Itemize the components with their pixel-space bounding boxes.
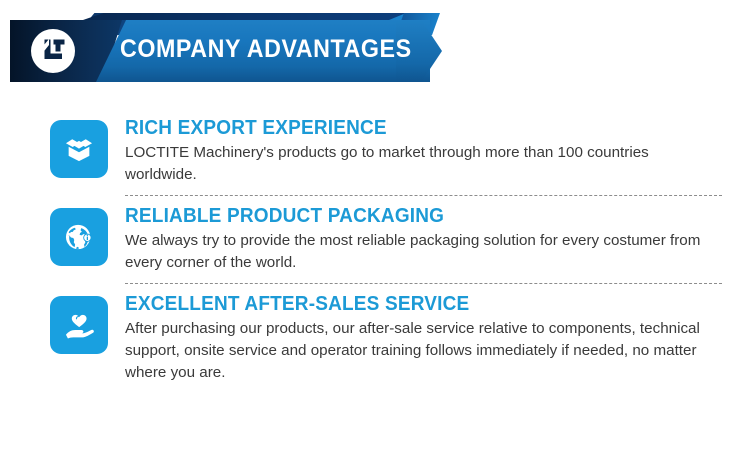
feature-text: After purchasing our products, our after…: [125, 318, 722, 384]
hand-heart-icon: [50, 296, 108, 354]
list-item: EXCELLENT AFTER-SALES SERVICE After purc…: [0, 293, 750, 384]
list-item: RELIABLE PRODUCT PACKAGING We always try…: [0, 205, 750, 274]
feature-body: EXCELLENT AFTER-SALES SERVICE After purc…: [108, 293, 722, 384]
divider: [125, 195, 722, 196]
feature-title: EXCELLENT AFTER-SALES SERVICE: [125, 293, 692, 315]
feature-text: We always try to provide the most reliab…: [125, 230, 722, 274]
globe-icon: [50, 208, 108, 266]
page-title: COMPANY ADVANTAGES: [120, 35, 399, 64]
feature-body: RELIABLE PRODUCT PACKAGING We always try…: [108, 205, 722, 274]
divider: [125, 283, 722, 284]
feature-body: RICH EXPORT EXPERIENCE LOCTITE Machinery…: [108, 117, 722, 186]
banner-accent-stripe-dark: [66, 13, 406, 20]
advantages-list: RICH EXPORT EXPERIENCE LOCTITE Machinery…: [0, 117, 750, 384]
feature-title: RELIABLE PRODUCT PACKAGING: [125, 205, 692, 227]
list-item: RICH EXPORT EXPERIENCE LOCTITE Machinery…: [0, 117, 750, 186]
open-box-icon: [50, 120, 108, 178]
lt-logo-icon: [29, 27, 77, 75]
company-advantages-banner: COMPANY ADVANTAGES: [0, 0, 750, 96]
feature-text: LOCTITE Machinery's products go to marke…: [125, 142, 722, 186]
feature-title: RICH EXPORT EXPERIENCE: [125, 117, 692, 139]
